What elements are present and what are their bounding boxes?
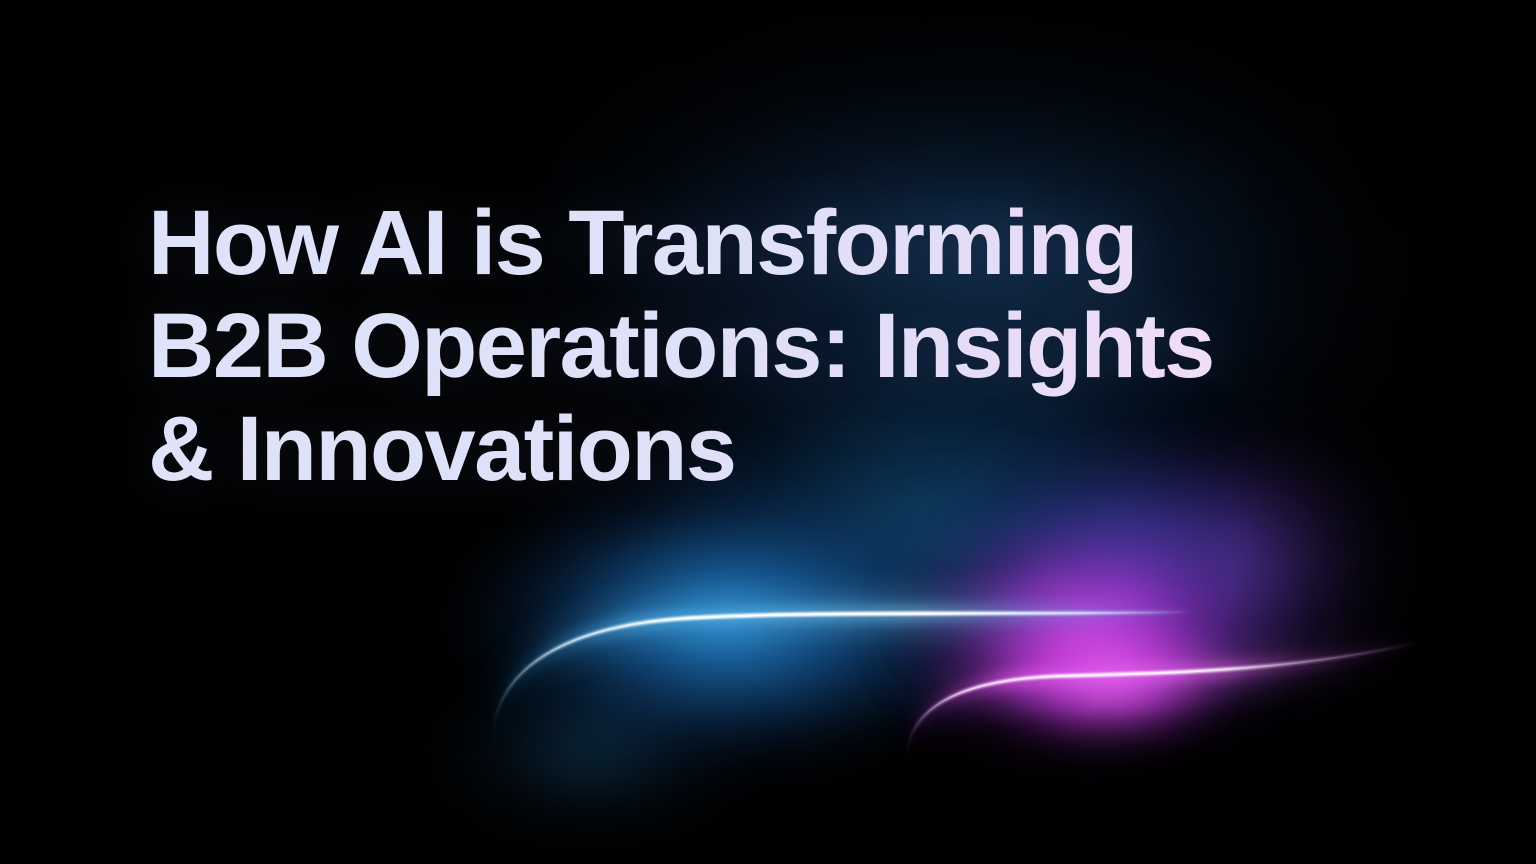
hero-banner: How AI is Transforming B2B Operations: I… [0,0,1536,864]
page-title: How AI is Transforming B2B Operations: I… [148,192,1438,501]
headline-block: How AI is Transforming B2B Operations: I… [148,192,1438,501]
